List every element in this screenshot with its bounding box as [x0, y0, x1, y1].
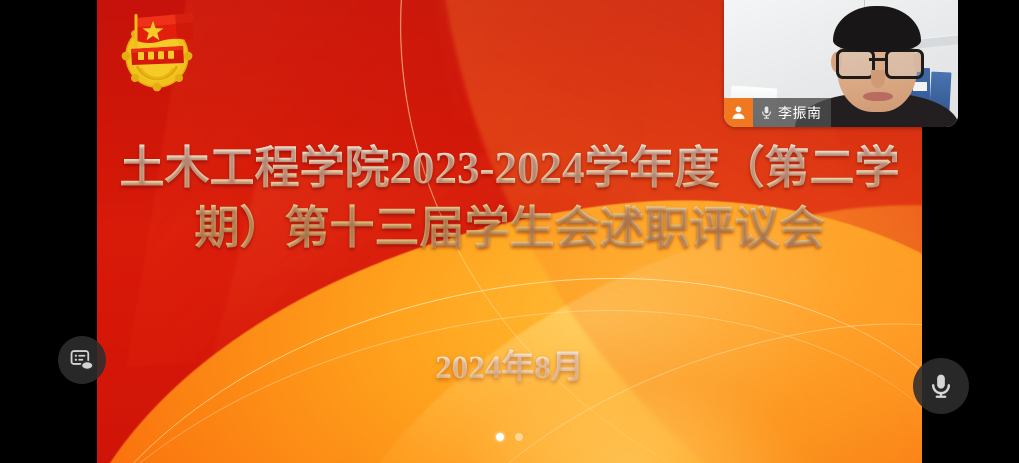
microphone-icon	[759, 105, 774, 120]
slide-title: 土木工程学院2023-2024学年度（第二学 期）第十三届学生会述职评议会	[105, 138, 914, 258]
participant-portrait	[813, 6, 941, 127]
meeting-stage: 土木工程学院2023-2024学年度（第二学 期）第十三届学生会述职评议会 20…	[0, 0, 1019, 463]
person-icon	[724, 98, 753, 127]
pagination-dot-2[interactable]	[515, 433, 523, 441]
participant-name-tag: 李振南	[724, 98, 831, 127]
portrait-hair	[833, 6, 921, 52]
portrait-nose	[871, 70, 885, 88]
glasses-lens	[885, 49, 924, 79]
communist-youth-league-emblem	[113, 8, 205, 94]
portrait-mouth	[863, 92, 893, 101]
participant-name: 李振南	[778, 106, 822, 120]
glasses-bridge	[869, 58, 885, 61]
pagination-dot-1[interactable]	[496, 433, 504, 441]
glasses-lens	[836, 49, 875, 79]
participant-name-container: 李振南	[753, 98, 831, 127]
participant-video-tile[interactable]: 李振南	[724, 0, 958, 127]
chat-bubble-icon	[70, 348, 95, 373]
slide-pagination[interactable]	[97, 433, 922, 441]
slide-date: 2024年8月	[97, 348, 922, 388]
microphone-button[interactable]	[913, 358, 969, 414]
chat-subtitles-button[interactable]	[58, 336, 106, 384]
microphone-icon	[927, 372, 955, 400]
